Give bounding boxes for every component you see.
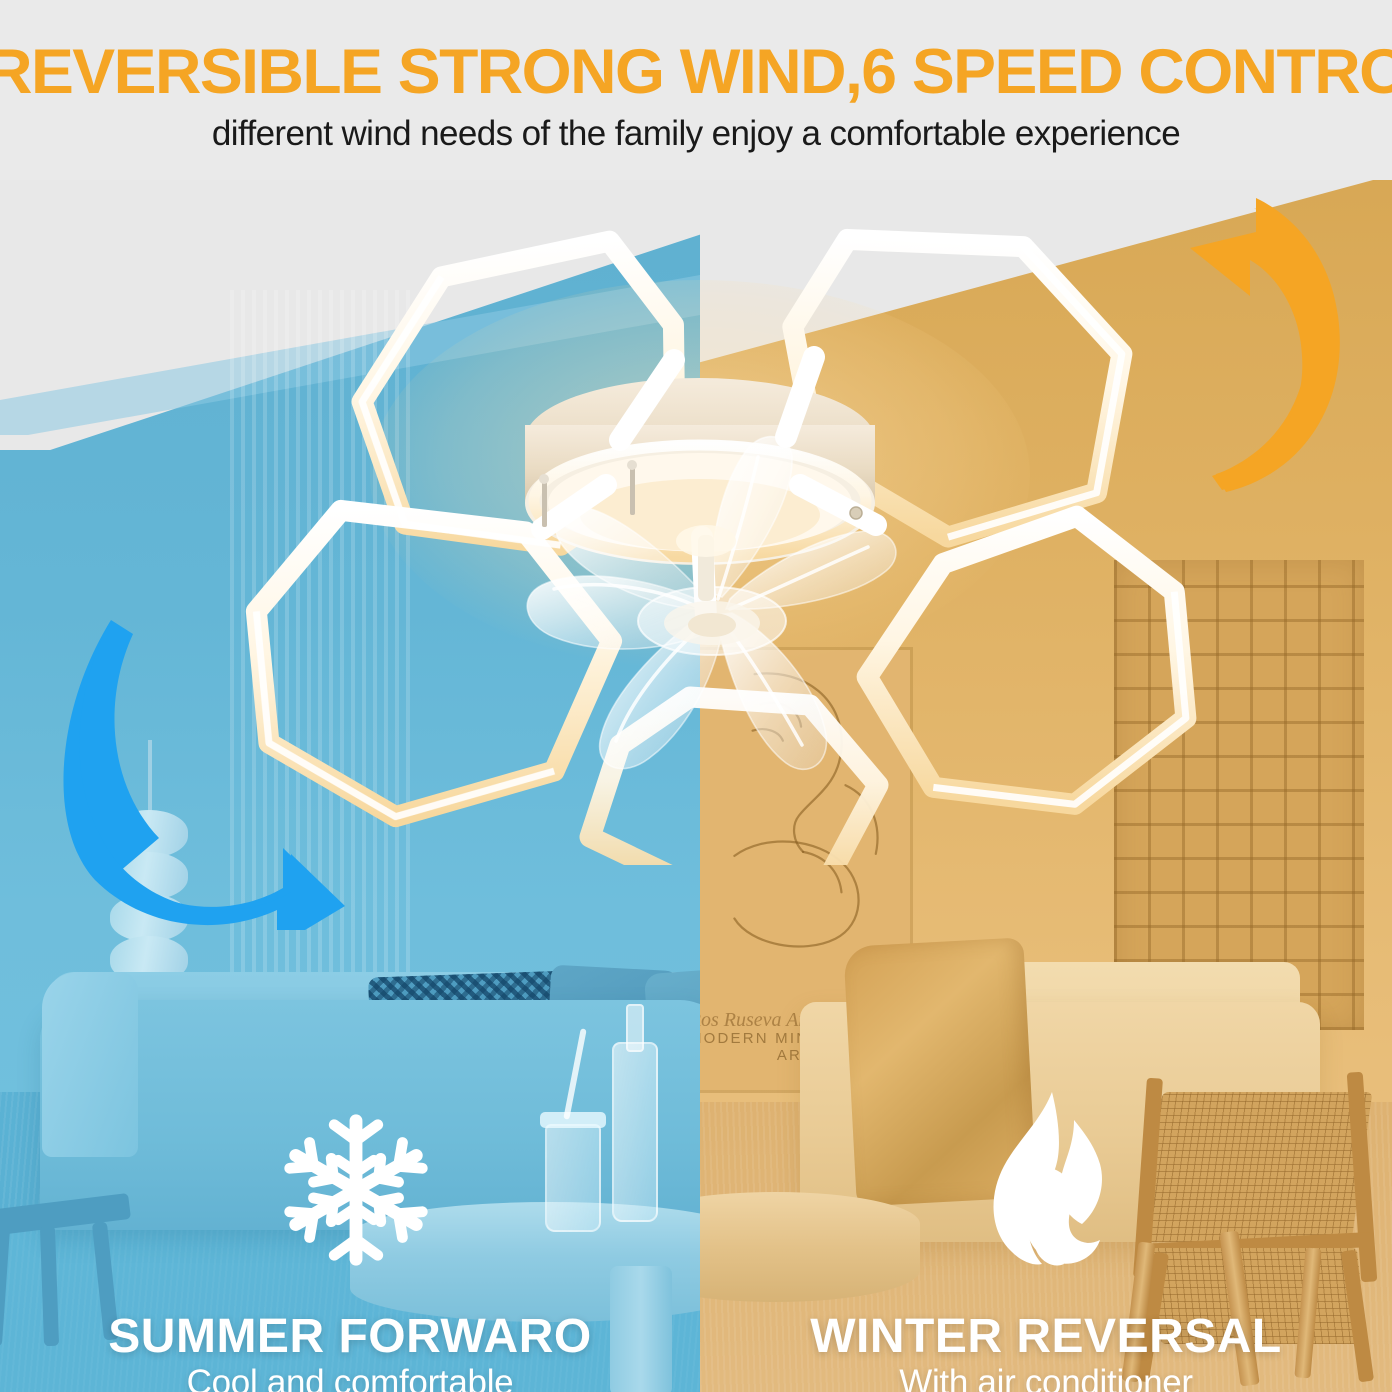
- snowflake-icon: [272, 1110, 440, 1270]
- subheadline-text: different wind needs of the family enjoy…: [0, 114, 1392, 154]
- summer-title: SUMMER FORWARO: [20, 1312, 680, 1362]
- header-banner: REVERSIBLE STRONG WIND,6 SPEED CONTROL d…: [0, 0, 1392, 180]
- summer-forward-rotation-arrow: [55, 600, 345, 930]
- drinking-jar-lid: [540, 1112, 606, 1128]
- headline-text: REVERSIBLE STRONG WIND,6 SPEED CONTROL: [0, 36, 1392, 108]
- winter-desc-line1: With air conditioner: [712, 1362, 1380, 1392]
- winter-text-block: WINTER REVERSAL With air conditioner deh…: [712, 1312, 1380, 1392]
- glass-bottle: [612, 1042, 658, 1222]
- warm-coffee-table: [700, 1192, 920, 1302]
- product-marketing-image: Ros Ruseva Art–Etsy Shop MODERN MINIMAL …: [0, 0, 1392, 1392]
- summer-desc-line1: Cool and comfortable: [20, 1362, 680, 1392]
- glass-bottle-neck: [626, 1004, 644, 1052]
- summer-text-block: SUMMER FORWARO Cool and comfortable comf…: [20, 1312, 680, 1392]
- room-scene: Ros Ruseva Art–Etsy Shop MODERN MINIMAL …: [0, 180, 1392, 1392]
- cool-sofa-armrest: [42, 972, 138, 1157]
- flame-icon: [978, 1090, 1128, 1280]
- drinking-jar: [545, 1124, 601, 1232]
- winter-title: WINTER REVERSAL: [712, 1312, 1380, 1362]
- winter-reversal-rotation-arrow: [1130, 190, 1392, 510]
